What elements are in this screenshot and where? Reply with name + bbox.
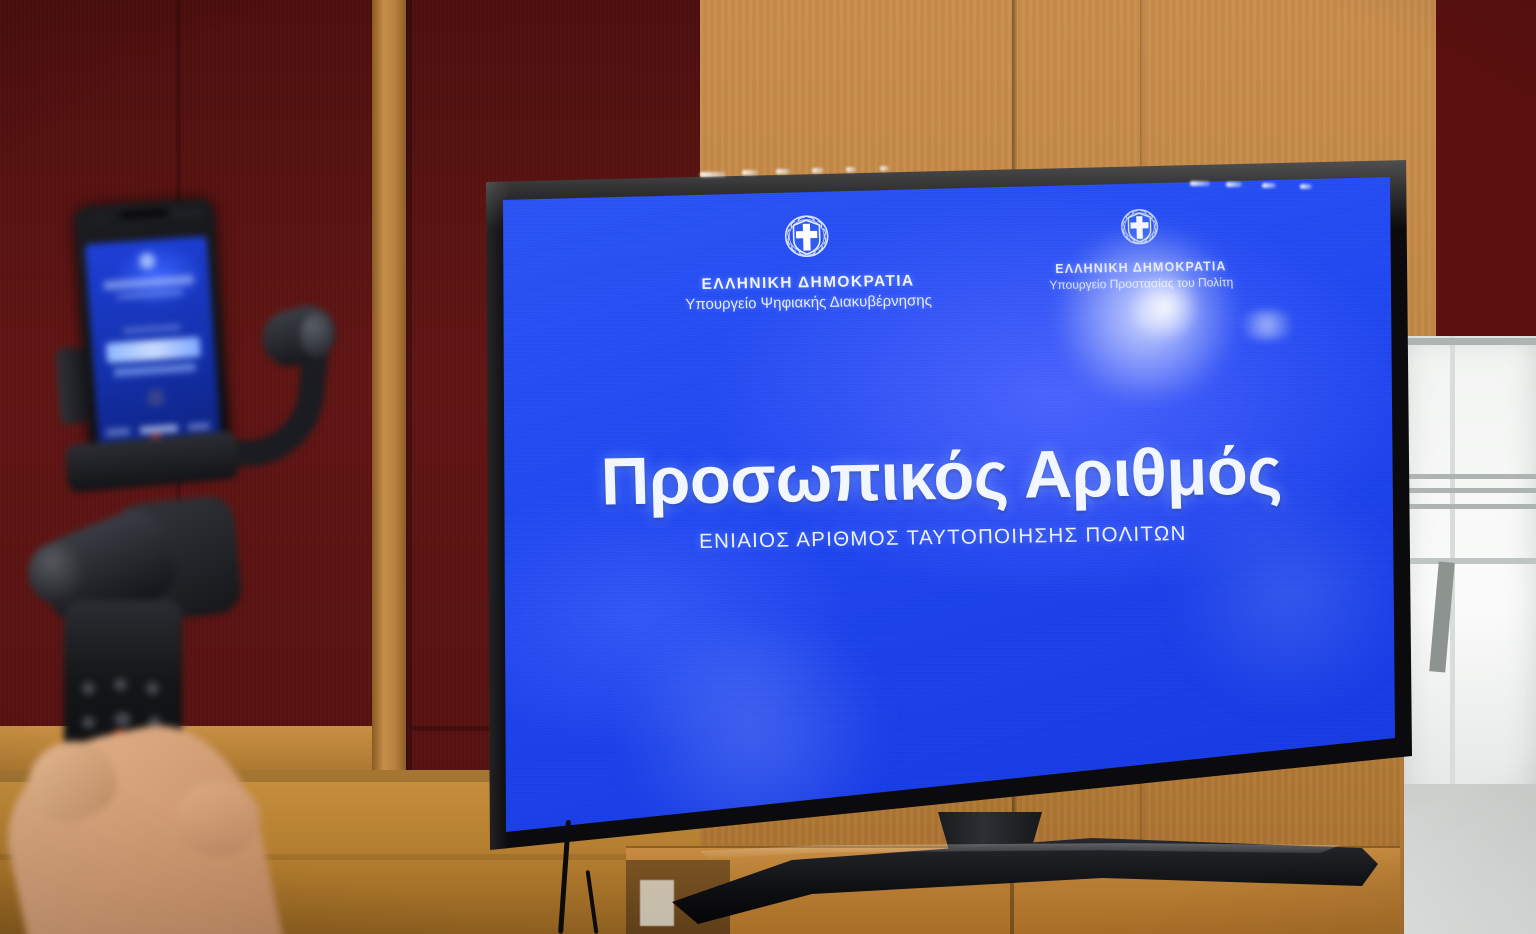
phone-title-text: [106, 337, 201, 364]
knuckle: [176, 782, 260, 856]
wood-stile-shadow: [406, 0, 412, 790]
phone-camera-icon: [174, 211, 180, 217]
television-screen[interactable]: ΕΛΛΗΝΙΚΗ ΔΗΜΟΚΡΑΤΙΑ Υπουργείο Ψηφιακής Δ…: [472, 160, 1412, 850]
phone-status-chip: [106, 428, 130, 437]
phone-crest-icon: [138, 252, 157, 271]
slide-logos: ΕΛΛΗΝΙΚΗ ΔΗΜΟΚΡΑΤΙΑ Υπουργείο Ψηφιακής Δ…: [472, 200, 1407, 317]
phone-camera-icon: [184, 210, 190, 216]
smartphone[interactable]: [73, 197, 231, 462]
gimbal-rig: [0, 170, 360, 934]
bezel-reflection: [880, 166, 889, 171]
window-rail: [1404, 558, 1536, 564]
hand: [0, 708, 312, 934]
slide-title-block: Προσωπικός Αριθμός ΕΝΙΑΙΟΣ ΑΡΙΘΜΟΣ ΤΑΥΤΟ…: [472, 430, 1412, 558]
gimbal-button[interactable]: [146, 682, 159, 695]
bezel-reflection: [742, 170, 758, 175]
bezel-reflection: [812, 168, 824, 173]
phone-camera-icon: [194, 209, 200, 215]
logo-ministry-digital-governance: ΕΛΛΗΝΙΚΗ ΔΗΜΟΚΡΑΤΙΑ Υπουργείο Ψηφιακής Δ…: [683, 208, 932, 313]
scene-root: ΕΛΛΗΝΙΚΗ ΔΗΜΟΚΡΑΤΙΑ Υπουργείο Ψηφιακής Δ…: [0, 0, 1536, 934]
phone-clamp: [55, 347, 88, 425]
slide-title: Προσωπικός Αριθμός: [600, 432, 1283, 520]
logo-line1: ΕΛΛΗΝΙΚΗ ΔΗΜΟΚΡΑΤΙΑ: [1055, 259, 1227, 276]
bezel-reflection: [700, 172, 726, 177]
slide-content: ΕΛΛΗΝΙΚΗ ΔΗΜΟΚΡΑΤΙΑ Υπουργείο Ψηφιακής Δ…: [472, 160, 1412, 850]
gimbal-button[interactable]: [114, 678, 127, 691]
bezel-reflection: [846, 167, 856, 172]
window-rail: [1404, 488, 1536, 493]
logo-line2: Υπουργείο Προστασίας του Πολίτη: [1049, 275, 1233, 292]
logo-line1: ΕΛΛΗΝΙΚΗ ΔΗΜΟΚΡΑΤΙΑ: [701, 272, 914, 294]
window-rail: [1404, 504, 1536, 509]
phone-status-chip: [188, 422, 210, 431]
bezel-reflection: [1226, 182, 1242, 187]
gimbal-motor-cap: [28, 542, 86, 604]
phone-text-line: [116, 290, 182, 300]
logo-line2: Υπουργείο Ψηφιακής Διακυβέρνησης: [685, 292, 932, 313]
greek-coat-of-arms-icon: [1117, 204, 1162, 254]
wood-stile: [372, 0, 406, 790]
cabinet-paper-label: [640, 880, 674, 926]
gimbal-motor-cap: [300, 312, 334, 358]
phone-camera-icon: [98, 217, 103, 222]
gimbal-button[interactable]: [82, 682, 95, 695]
gimbal-button[interactable]: [82, 716, 95, 729]
bezel-reflection: [1262, 183, 1276, 188]
logo-ministry-citizen-protection: ΕΛΛΗΝΙΚΗ ΔΗΜΟΚΡΑΤΙΑ Υπουργείο Προστασίας…: [1047, 203, 1233, 292]
phone-text-line: [103, 275, 193, 290]
phone-screen[interactable]: [85, 236, 221, 448]
window: [1404, 336, 1536, 934]
slide-subtitle: ΕΝΙΑΙΟΣ ΑΡΙΘΜΟΣ ΤΑΥΤΟΠΟΙΗΣΗΣ ΠΟΛΙΤΩΝ: [699, 522, 1187, 554]
bezel-reflection: [1190, 181, 1210, 186]
phone-subtitle-text: [114, 363, 196, 377]
phone-earpiece: [120, 209, 168, 219]
phone-icon: [147, 389, 164, 406]
phone-status-chip: [140, 424, 178, 434]
bezel-reflection: [776, 169, 790, 174]
window-floor: [1404, 784, 1536, 934]
phone-text-line: [123, 324, 181, 334]
window-rail: [1404, 338, 1536, 345]
greek-coat-of-arms-icon: [780, 210, 834, 268]
gimbal-joystick[interactable]: [114, 712, 131, 727]
window-rail: [1404, 474, 1536, 479]
bezel-reflection: [1300, 184, 1312, 189]
